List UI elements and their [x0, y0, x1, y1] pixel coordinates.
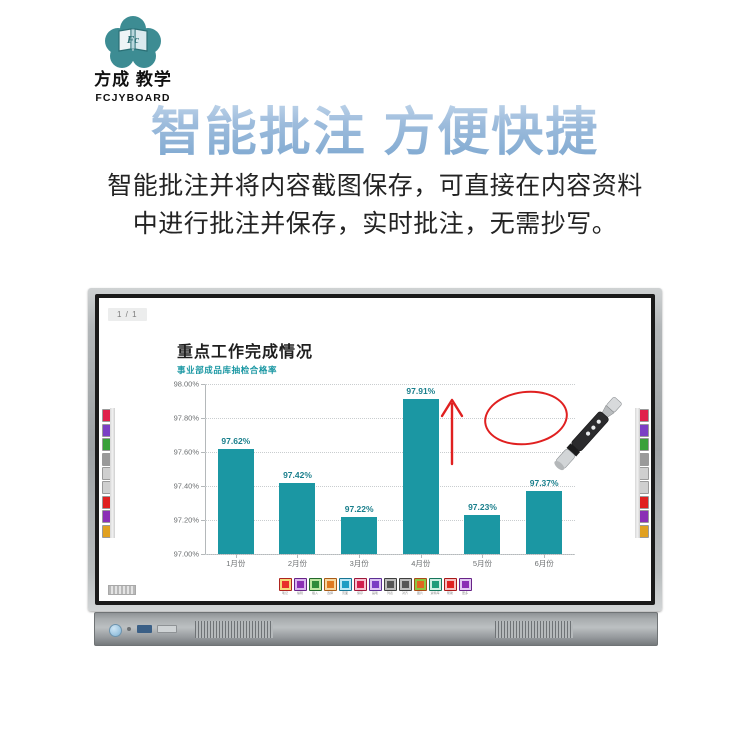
tool-pen-icon — [369, 578, 382, 591]
x-tick-label: 5月份 — [452, 558, 514, 569]
subtitle-line-2: 中进行批注并保存，实时批注，无需抄写。 — [0, 206, 750, 244]
tool-more-icon — [459, 578, 472, 591]
speaker-grille-left — [195, 621, 273, 638]
bar — [403, 399, 439, 554]
tool-save-label: 保存 — [354, 592, 366, 595]
y-tick-label: 97.20% — [174, 516, 199, 525]
tool-library-label: 资料库 — [429, 592, 441, 595]
side-toolbar-right[interactable] — [635, 408, 649, 539]
status-led-icon — [127, 627, 131, 631]
screen-status-bar — [108, 585, 136, 595]
tool-save-icon — [354, 578, 367, 591]
usb-port-icon — [137, 625, 152, 633]
bottom-toolbar[interactable]: 笔记编辑插入选择页面保存画笔列表对齐图片资料库帮助更多 — [279, 578, 471, 595]
tool-edit-label: 编辑 — [294, 592, 306, 595]
y-tick-label: 97.00% — [174, 550, 199, 559]
tool-align-label: 对齐 — [399, 592, 411, 595]
bar-group: 97.62%1月份 — [205, 384, 267, 554]
subtitle-line-1: 智能批注并将内容截图保存，可直接在内容资料 — [0, 168, 750, 206]
tool-insert-icon — [309, 578, 322, 591]
tool-edit[interactable]: 编辑 — [294, 578, 306, 595]
tool-more[interactable]: 更多 — [459, 578, 471, 595]
page-indicator: 1 / 1 — [108, 308, 147, 321]
x-tick-mark — [297, 554, 298, 558]
x-tick-mark — [482, 554, 483, 558]
bar-value-label: 97.91% — [390, 386, 452, 396]
chart-title: 重点工作完成情况 — [177, 338, 313, 362]
tool-more-label: 更多 — [459, 592, 471, 595]
y-tick-label: 97.80% — [174, 414, 199, 423]
bar — [341, 517, 377, 554]
tool-pen-label: 画笔 — [369, 592, 381, 595]
tool-insert-label: 插入 — [309, 592, 321, 595]
tool-help-icon — [444, 578, 457, 591]
page-subtitle: 智能批注并将内容截图保存，可直接在内容资料 中进行批注并保存，实时批注，无需抄写… — [0, 168, 750, 243]
grid-line — [205, 554, 575, 555]
tool-note-label: 笔记 — [279, 592, 291, 595]
tool-edit-icon — [294, 578, 307, 591]
side-toolbar-left-handle[interactable] — [110, 408, 115, 538]
x-tick-label: 1月份 — [205, 558, 267, 569]
tool-list-icon — [384, 578, 397, 591]
tool-align-icon — [399, 578, 412, 591]
page-headline: 智能批注 方便快捷 — [0, 90, 750, 165]
tool-help-label: 帮助 — [444, 592, 456, 595]
tool-library[interactable]: 资料库 — [429, 578, 441, 595]
tool-image-icon — [414, 578, 427, 591]
bar-value-label: 97.62% — [205, 436, 267, 446]
device-base — [94, 612, 658, 646]
tool-library-icon — [429, 578, 442, 591]
tool-note-icon — [279, 578, 292, 591]
power-button-icon[interactable] — [109, 624, 122, 637]
tool-pen[interactable]: 画笔 — [369, 578, 381, 595]
tool-page-icon — [339, 578, 352, 591]
y-tick-label: 97.40% — [174, 482, 199, 491]
x-tick-label: 3月份 — [328, 558, 390, 569]
bar — [218, 449, 254, 554]
x-tick-label: 6月份 — [513, 558, 575, 569]
chart-subtitle: 事业部成品库抽检合格率 — [177, 364, 277, 376]
book-icon: Fc — [117, 27, 149, 53]
display-bezel: 1 / 1 重点工作完成情况 事业部成品库抽检合格率 97.00%97.20%9… — [88, 288, 662, 611]
tool-save[interactable]: 保存 — [354, 578, 366, 595]
bar-group: 97.22%3月份 — [328, 384, 390, 554]
y-tick-mark — [201, 554, 205, 555]
whiteboard-screen[interactable]: 1 / 1 重点工作完成情况 事业部成品库抽检合格率 97.00%97.20%9… — [99, 298, 651, 601]
x-tick-mark — [421, 554, 422, 558]
tool-page[interactable]: 页面 — [339, 578, 351, 595]
tool-select-label: 选择 — [324, 592, 336, 595]
tool-note[interactable]: 笔记 — [279, 578, 291, 595]
bar — [279, 483, 315, 554]
bar-value-label: 97.22% — [328, 504, 390, 514]
bar-value-label: 97.42% — [267, 470, 329, 480]
tool-image[interactable]: 图片 — [414, 578, 426, 595]
x-tick-mark — [544, 554, 545, 558]
flower-logo-icon: Fc — [105, 16, 161, 68]
tool-image-label: 图片 — [414, 592, 426, 595]
tool-insert[interactable]: 插入 — [309, 578, 321, 595]
tool-list-label: 列表 — [384, 592, 396, 595]
interactive-whiteboard: 1 / 1 重点工作完成情况 事业部成品库抽检合格率 97.00%97.20%9… — [88, 288, 662, 648]
stylus-pen-icon — [537, 384, 637, 484]
x-tick-mark — [236, 554, 237, 558]
tool-select[interactable]: 选择 — [324, 578, 336, 595]
bar — [526, 491, 562, 554]
hdmi-port-icon — [157, 625, 177, 633]
speaker-grille-right — [495, 621, 573, 638]
display-inner-frame: 1 / 1 重点工作完成情况 事业部成品库抽检合格率 97.00%97.20%9… — [95, 294, 655, 605]
y-tick-label: 97.60% — [174, 448, 199, 457]
tool-list[interactable]: 列表 — [384, 578, 396, 595]
red-arrow-annotation — [439, 396, 465, 466]
side-toolbar-left[interactable] — [101, 408, 115, 539]
svg-text:Fc: Fc — [126, 34, 139, 46]
x-tick-mark — [359, 554, 360, 558]
bar-group: 97.42%2月份 — [267, 384, 329, 554]
y-tick-label: 98.00% — [174, 380, 199, 389]
bar — [464, 515, 500, 554]
tool-align[interactable]: 对齐 — [399, 578, 411, 595]
tool-select-icon — [324, 578, 337, 591]
bar-value-label: 97.23% — [452, 502, 514, 512]
x-tick-label: 4月份 — [390, 558, 452, 569]
x-tick-label: 2月份 — [267, 558, 329, 569]
tool-help[interactable]: 帮助 — [444, 578, 456, 595]
tool-page-label: 页面 — [339, 592, 351, 595]
brand-name-cn: 方成 教学 — [78, 71, 188, 90]
